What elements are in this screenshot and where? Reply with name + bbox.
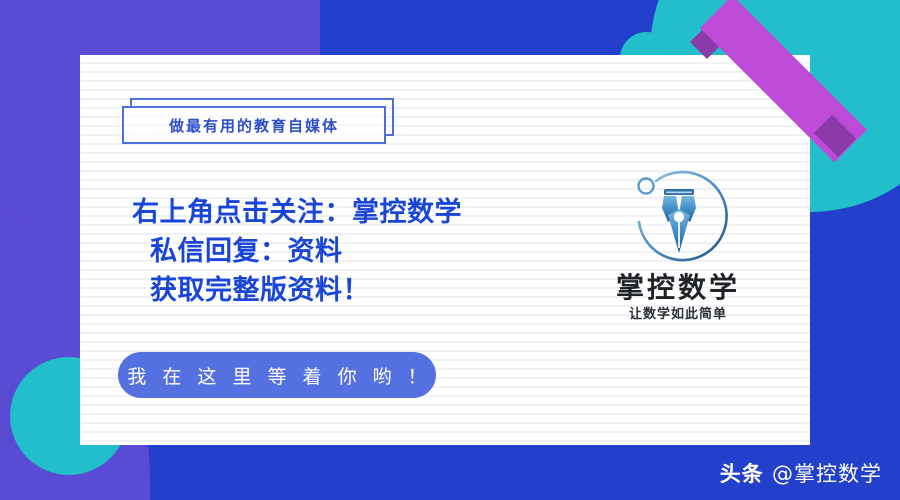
tagline-box: 做最有用的教育自媒体 [122, 98, 394, 144]
purple-ribbon [690, 38, 860, 178]
tagline-frame-front: 做最有用的教育自媒体 [122, 106, 386, 144]
poster-canvas: 做最有用的教育自媒体 右上角点击关注：掌控数学 私信回复：资料 获取完整版资料！… [0, 0, 900, 500]
cta-pill-label: 我 在 这 里 等 着 你 哟 ！ [122, 362, 431, 389]
brand-logo-slogan: 让数学如此简单 [580, 305, 776, 325]
headline-block: 右上角点击关注：掌控数学 私信回复：资料 获取完整版资料！ [132, 193, 562, 310]
headline-line-3: 获取完整版资料！ [132, 271, 562, 310]
watermark: 头条 @掌控数学 [720, 458, 882, 488]
brand-logo-name: 掌控数学 [580, 271, 776, 305]
watermark-platform: 头条 [720, 462, 764, 486]
headline-line-1: 右上角点击关注：掌控数学 [132, 193, 562, 232]
brand-logo: 掌控数学 让数学如此简单 [580, 165, 776, 325]
cta-pill-button[interactable]: 我 在 这 里 等 着 你 哟 ！ [118, 352, 436, 398]
pen-nib-icon [580, 165, 776, 271]
headline-line-2: 私信回复：资料 [132, 232, 562, 271]
watermark-handle: @掌控数学 [772, 462, 882, 486]
tagline-text: 做最有用的教育自媒体 [169, 115, 339, 136]
